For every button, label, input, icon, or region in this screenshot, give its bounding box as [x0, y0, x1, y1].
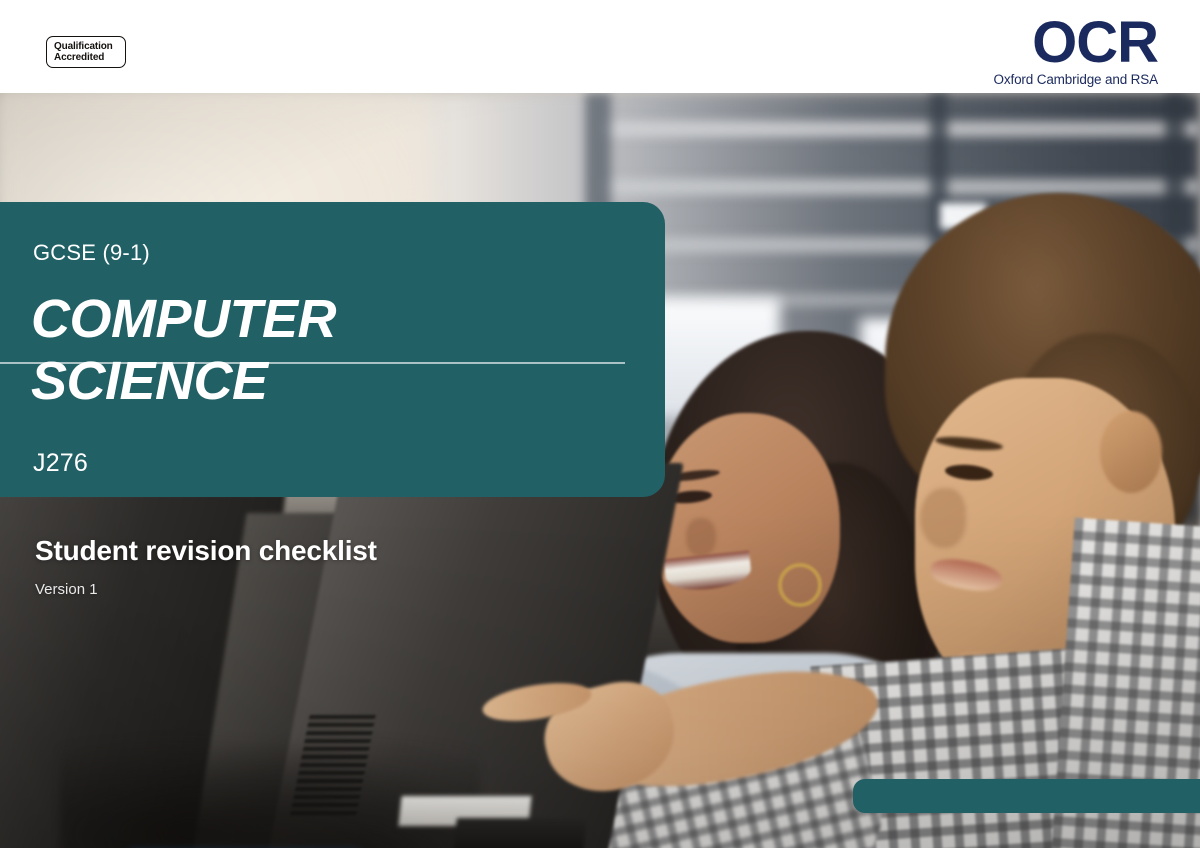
subject-title-line-two: SCIENCE [31, 350, 651, 412]
badge-line-two: Accredited [54, 52, 125, 64]
qualification-accredited-badge: Qualification Accredited [46, 36, 126, 68]
document-cover-page: Qualification Accredited OCR Oxford Camb… [0, 0, 1200, 848]
bottom-accent-bar [853, 779, 1200, 813]
specification-code: J276 [33, 448, 88, 478]
subject-title-line-one: COMPUTER [31, 288, 651, 350]
title-divider-rule [0, 362, 625, 364]
qualification-level: GCSE (9-1) [33, 240, 150, 266]
subject-title: COMPUTER SCIENCE [31, 288, 651, 412]
header-band: Qualification Accredited OCR Oxford Camb… [0, 0, 1200, 93]
ocr-logo-wordmark: OCR [994, 18, 1158, 68]
document-title: Student revision checklist [35, 534, 377, 568]
ocr-logo-strapline: Oxford Cambridge and RSA [994, 72, 1158, 88]
ocr-logo: OCR Oxford Cambridge and RSA [994, 18, 1158, 88]
badge-line-one: Qualification [54, 41, 125, 53]
document-version: Version 1 [35, 580, 98, 600]
